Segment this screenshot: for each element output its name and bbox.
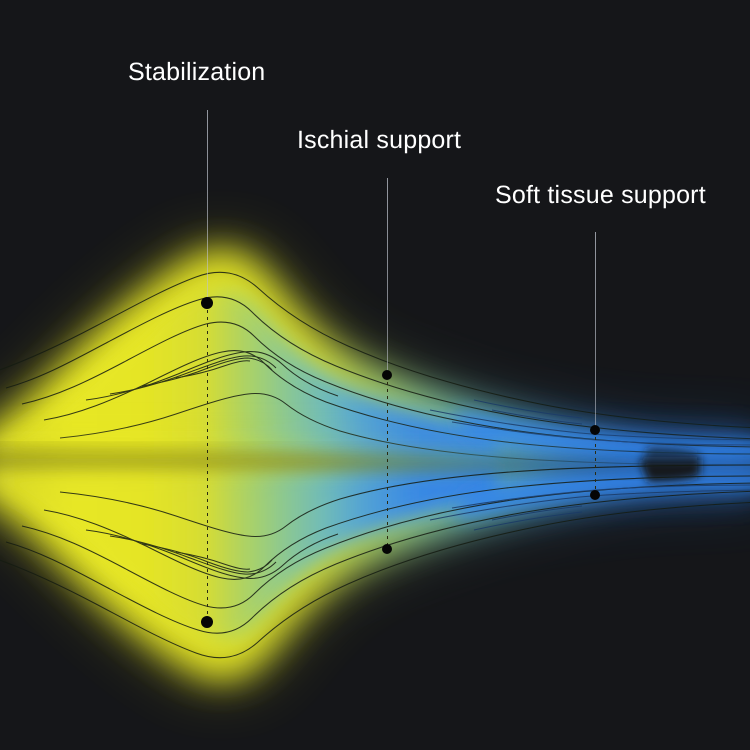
heatmap-canvas — [0, 0, 750, 750]
pressure-map-figure: Stabilization Ischial support Soft tissu… — [0, 0, 750, 750]
heatmap-bottom-half — [0, 460, 750, 679]
heatmap-top-half — [0, 251, 750, 470]
